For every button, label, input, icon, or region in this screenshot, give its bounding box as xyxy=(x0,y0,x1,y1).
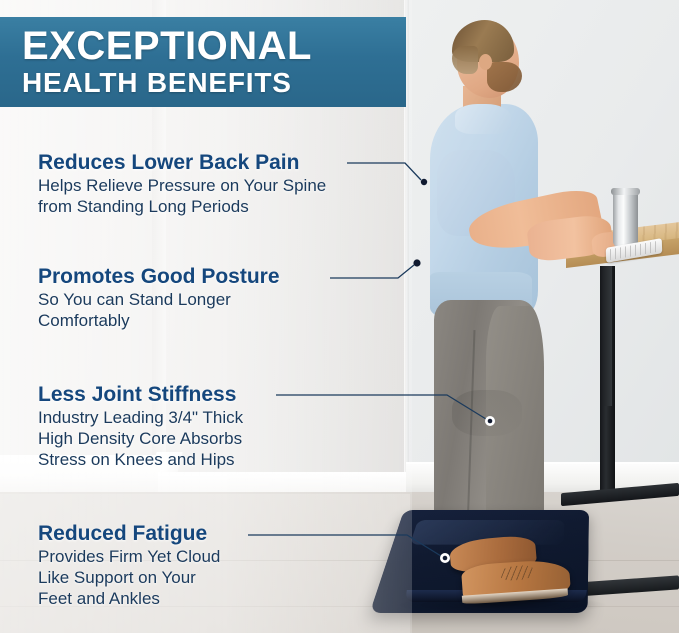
benefit-title: Reduced Fatigue xyxy=(38,521,220,546)
benefit-block-3: Less Joint Stiffness Industry Leading 3/… xyxy=(38,382,243,470)
banner-subhead: HEALTH BENEFITS xyxy=(22,67,406,98)
benefit-line: Industry Leading 3/4" Thick xyxy=(38,407,243,428)
benefit-line: Feet and Ankles xyxy=(38,588,220,609)
desk-leg-telescoping-column xyxy=(603,266,612,406)
tumbler-lid xyxy=(611,188,640,195)
benefit-block-4: Reduced Fatigue Provides Firm Yet Cloud … xyxy=(38,521,220,609)
benefit-title: Less Joint Stiffness xyxy=(38,382,243,407)
benefit-title: Promotes Good Posture xyxy=(38,264,280,289)
benefit-title: Reduces Lower Back Pain xyxy=(38,150,326,175)
infographic-poster: EXCEPTIONAL HEALTH BENEFITS Reduces Lowe… xyxy=(0,0,679,633)
tumbler xyxy=(613,190,638,248)
benefit-line: Like Support on Your xyxy=(38,567,220,588)
banner-headline: EXCEPTIONAL xyxy=(22,26,406,67)
benefit-line: High Density Core Absorbs xyxy=(38,428,243,449)
benefit-block-2: Promotes Good Posture So You can Stand L… xyxy=(38,264,280,331)
benefit-line: from Standing Long Periods xyxy=(38,196,326,217)
polo-collar xyxy=(455,104,511,134)
benefit-line: Stress on Knees and Hips xyxy=(38,449,243,470)
benefit-line: Comfortably xyxy=(38,310,280,331)
header-banner: EXCEPTIONAL HEALTH BENEFITS xyxy=(0,17,406,107)
ear xyxy=(479,54,492,70)
benefit-block-1: Reduces Lower Back Pain Helps Relieve Pr… xyxy=(38,150,326,217)
benefit-line: So You can Stand Longer xyxy=(38,289,280,310)
benefit-line: Helps Relieve Pressure on Your Spine xyxy=(38,175,326,196)
trouser-knee-fold xyxy=(452,390,522,436)
hair-fade xyxy=(452,46,478,74)
benefit-line: Provides Firm Yet Cloud xyxy=(38,546,220,567)
